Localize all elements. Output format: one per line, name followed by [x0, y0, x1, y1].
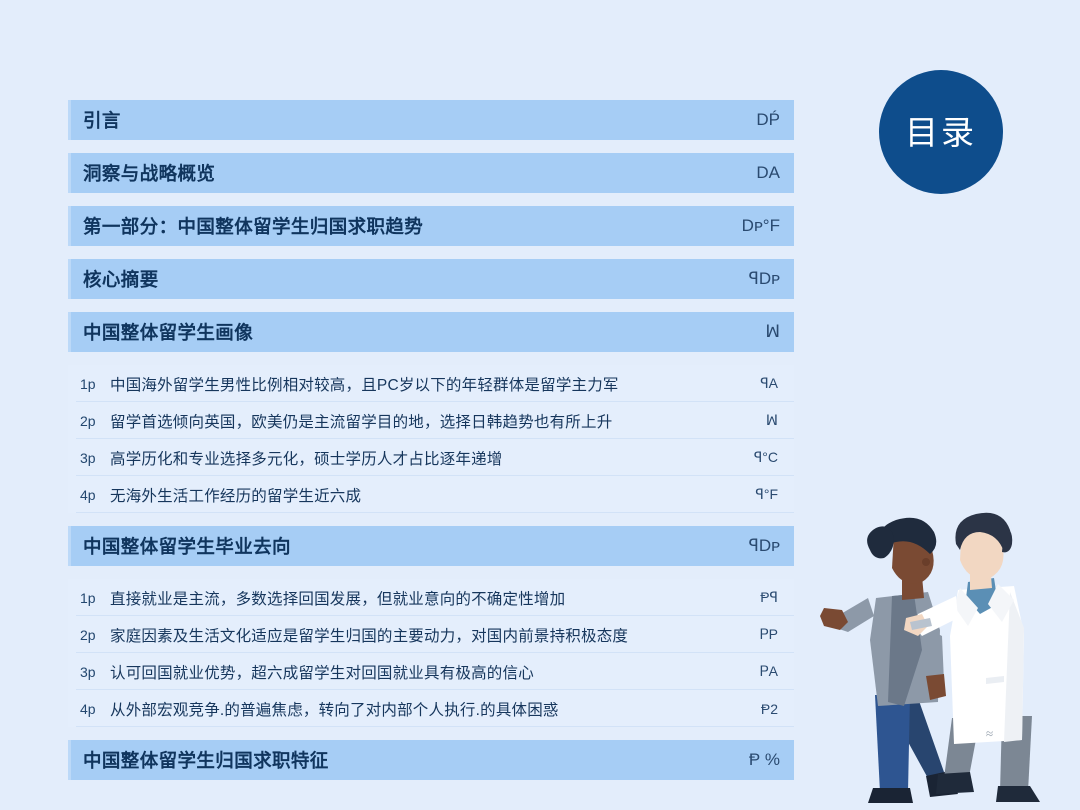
- toc-section-row[interactable]: 中国整体留学生归国求职特征 Ᵽ %: [68, 740, 794, 780]
- toc-section-row[interactable]: 第一部分：中国整体留学生归国求职趋势 Dᴘ°F: [68, 206, 794, 246]
- toc-subitem-row[interactable]: 2p 家庭因素及生活文化适应是留学生归国的主要动力，对国内前景持积极态度 ᏢP: [68, 616, 794, 653]
- toc-row-page-number: ꟼDᴘ: [749, 269, 780, 289]
- toc-subitem-row[interactable]: 2p 留学首选倾向英国，欧美仍是主流留学目的地，选择日韩趋势也有所上升 ꟽ: [68, 402, 794, 439]
- toc-row-page-number: DA: [756, 163, 780, 183]
- toc-row-page-number: Dᴘ°F: [742, 216, 780, 236]
- toc-row-title: 中国海外留学生男性比例相对较高，且PC岁以下的年轻群体是留学主力军: [110, 373, 619, 395]
- toc-row-title: 直接就业是主流，多数选择回国发展，但就业意向的不确定性增加: [110, 587, 565, 609]
- toc-badge-label: 目录: [905, 116, 977, 149]
- toc-row-page-number: ꟽ: [765, 322, 780, 342]
- toc-row-page-number: ᏢA: [760, 663, 778, 680]
- toc-subitem-row[interactable]: 1p 中国海外留学生男性比例相对较高，且PC岁以下的年轻群体是留学主力军 ꟼA: [68, 365, 794, 402]
- toc-row-title: 洞察与战略概览: [83, 160, 215, 186]
- toc-row-title: 高学历化和专业选择多元化，硕士学历人才占比逐年递增: [110, 447, 503, 469]
- toc-row-title: 中国整体留学生归国求职特征: [83, 747, 329, 773]
- toc-row-title: 中国整体留学生毕业去向: [83, 533, 291, 559]
- toc-row-page-number: Ᵽ %: [749, 750, 780, 770]
- toc-subitem-marker: 2p: [80, 413, 110, 429]
- toc-subitem-marker: 1p: [80, 590, 110, 606]
- two-people-walking-illustration: ≈: [818, 510, 1080, 810]
- toc-subitem-row[interactable]: 4p 无海外生活工作经历的留学生近六成 ꟼ°F: [68, 476, 794, 513]
- man-figure: ≈: [904, 513, 1040, 802]
- slide-canvas: 目录 引言 DṔ 洞察与战略概览 DA 第一部分：中国整体留学生归国求职趋势 D…: [0, 0, 1080, 810]
- toc-row-page-number: DṔ: [756, 110, 780, 130]
- toc-subitem-marker: 3p: [80, 450, 110, 466]
- toc-row-page-number: ꟼ°F: [755, 486, 778, 503]
- toc-subitem-row[interactable]: 3p 高学历化和专业选择多元化，硕士学历人才占比逐年递增 ꟼ°C: [68, 439, 794, 476]
- toc-subitem-group: 1p 直接就业是主流，多数选择回国发展，但就业意向的不确定性增加 Ᵽꟼ 2p 家…: [68, 579, 794, 727]
- toc-row-page-number: Ᵽꟼ: [760, 589, 778, 606]
- toc-row-title: 第一部分：中国整体留学生归国求职趋势: [83, 213, 423, 239]
- toc-subitem-row[interactable]: 3p 认可回国就业优势，超六成留学生对回国就业具有极高的信心 ᏢA: [68, 653, 794, 690]
- toc-row-title: 引言: [83, 107, 121, 133]
- toc-subitem-marker: 4p: [80, 701, 110, 717]
- toc-row-page-number: Ᵽ2: [761, 701, 778, 717]
- toc-row-title: 家庭因素及生活文化适应是留学生归国的主要动力，对国内前景持积极态度: [110, 624, 628, 646]
- toc-subitem-marker: 3p: [80, 664, 110, 680]
- toc-subitem-marker: 1p: [80, 376, 110, 392]
- toc-section-row[interactable]: 核心摘要 ꟼDᴘ: [68, 259, 794, 299]
- toc-subitem-marker: 2p: [80, 627, 110, 643]
- woman-figure: [820, 518, 958, 803]
- toc-row-page-number: ꟼDᴘ: [749, 536, 780, 556]
- toc-row-page-number: ꟼA: [760, 375, 778, 392]
- toc-section-row[interactable]: 中国整体留学生画像 ꟽ: [68, 312, 794, 352]
- toc-subitem-marker: 4p: [80, 487, 110, 503]
- toc-row-page-number: ꟼ°C: [754, 449, 778, 466]
- toc-row-title: 无海外生活工作经历的留学生近六成: [110, 484, 361, 506]
- toc-badge-circle: 目录: [879, 70, 1003, 194]
- toc-row-title: 中国整体留学生画像: [83, 319, 253, 345]
- toc-row-page-number: ᏢP: [760, 626, 778, 643]
- toc-subitem-row[interactable]: 4p 从外部宏观竞争.的普遍焦虑，转向了对内部个人执行.的具体困惑 Ᵽ2: [68, 690, 794, 727]
- table-of-contents: 引言 DṔ 洞察与战略概览 DA 第一部分：中国整体留学生归国求职趋势 Dᴘ°F…: [68, 100, 794, 793]
- toc-row-title: 从外部宏观竞争.的普遍焦虑，转向了对内部个人执行.的具体困惑: [110, 698, 559, 720]
- toc-subitem-row[interactable]: 1p 直接就业是主流，多数选择回国发展，但就业意向的不确定性增加 Ᵽꟼ: [68, 579, 794, 616]
- svg-text:≈: ≈: [986, 726, 993, 741]
- toc-subitem-group: 1p 中国海外留学生男性比例相对较高，且PC岁以下的年轻群体是留学主力军 ꟼA …: [68, 365, 794, 513]
- toc-row-title: 留学首选倾向英国，欧美仍是主流留学目的地，选择日韩趋势也有所上升: [110, 410, 612, 432]
- toc-row-title: 认可回国就业优势，超六成留学生对回国就业具有极高的信心: [110, 661, 534, 683]
- toc-row-page-number: ꟽ: [766, 412, 778, 429]
- toc-row-title: 核心摘要: [83, 266, 159, 292]
- toc-section-row[interactable]: 中国整体留学生毕业去向 ꟼDᴘ: [68, 526, 794, 566]
- toc-section-row[interactable]: 引言 DṔ: [68, 100, 794, 140]
- toc-section-row[interactable]: 洞察与战略概览 DA: [68, 153, 794, 193]
